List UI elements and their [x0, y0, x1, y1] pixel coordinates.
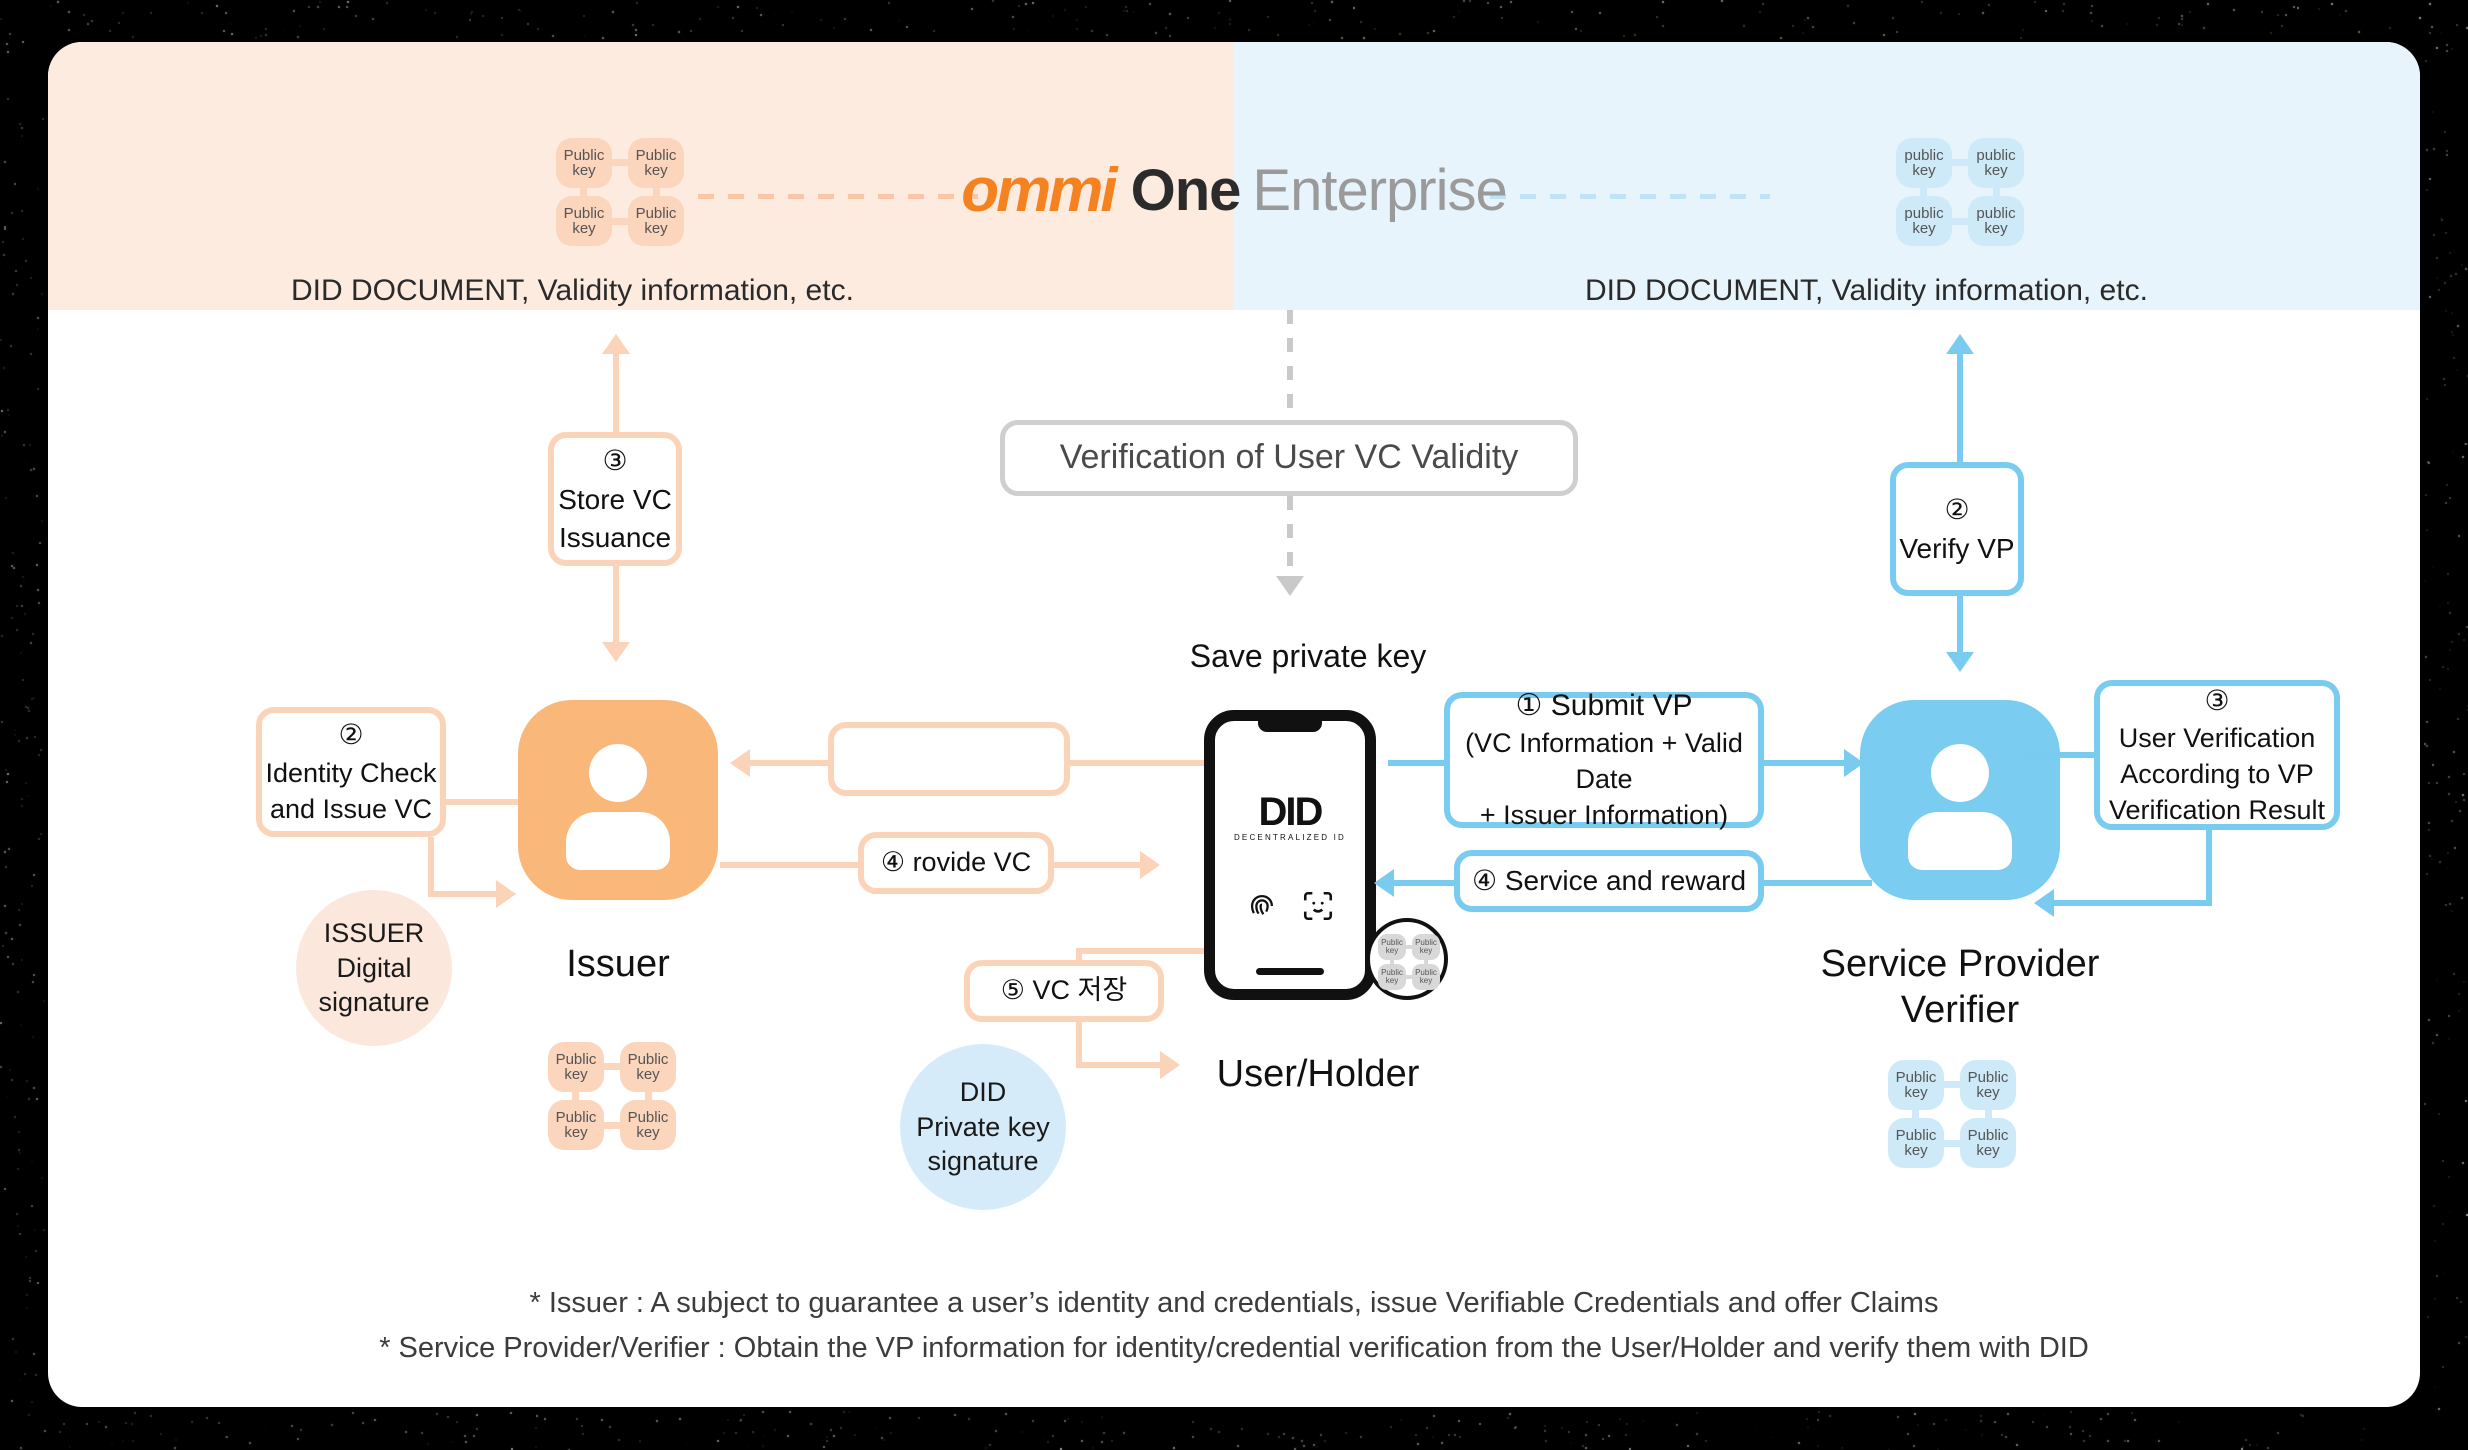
- public-key-grid-issuer-ledger: Publickey Publickey Publickey Publickey: [556, 138, 684, 246]
- circle-line-2: Private key: [916, 1110, 1050, 1145]
- footnote-issuer: * Issuer : A subject to guarantee a user…: [48, 1287, 2420, 1320]
- person-icon-head: [589, 744, 647, 802]
- public-key-grid-verifier: Publickey Publickey Publickey Publickey: [1888, 1060, 2016, 1168]
- person-icon-body: [1908, 812, 2012, 870]
- verifier-label-line-2: Verifier: [1748, 988, 2172, 1034]
- public-key-node: Publickey: [628, 138, 684, 188]
- step-number: ③: [2204, 682, 2229, 719]
- step-number: ③: [602, 442, 627, 479]
- step-box-provide-vc[interactable]: ④ rovide VC: [858, 832, 1054, 894]
- step-line-3: Verification Result: [2109, 793, 2325, 829]
- connector-verification-down: [2206, 830, 2212, 906]
- public-key-node: Publickey: [1888, 1060, 1944, 1110]
- step-line-1: User Verification: [2119, 721, 2316, 757]
- connector-store-vc-up: [613, 352, 619, 432]
- dashed-flow-bottom: [1287, 496, 1293, 582]
- step-line-1: Identity Check: [265, 756, 436, 792]
- connector-identity-down: [428, 837, 434, 897]
- brand-logo: ommi One Enterprise: [48, 160, 2420, 222]
- fingerprint-icon[interactable]: [1245, 889, 1279, 923]
- public-key-node: Publickey: [1412, 964, 1440, 990]
- connector-verify-vp-down: [1957, 596, 1963, 658]
- did-private-key-signature-circle: DID Private key signature: [900, 1044, 1066, 1210]
- step-number: ②: [1944, 491, 1969, 528]
- circle-line-2: Digital: [336, 951, 411, 986]
- public-key-grid-verifier-ledger: publickey publickey publickey publickey: [1896, 138, 2024, 246]
- step-box-identity-check[interactable]: ② Identity Check and Issue VC: [256, 707, 446, 837]
- screenshot-root: ommi One Enterprise DID DOCUMENT, Validi…: [0, 0, 2468, 1450]
- public-key-node: publickey: [1896, 138, 1952, 188]
- arrowhead-down-validity: [1276, 576, 1304, 596]
- step-line-2: (VC Information + Valid Date: [1450, 726, 1758, 798]
- connector-provide-vc-left: [720, 862, 870, 868]
- public-key-node: Publickey: [556, 138, 612, 188]
- public-key-grid-badge: Publickey Publickey Publickey Publickey: [1378, 934, 1440, 990]
- connector-provide-vc-right: [1050, 862, 1146, 868]
- footnote-verifier: * Service Provider/Verifier : Obtain the…: [48, 1332, 2420, 1365]
- arrowhead-left-service-reward: [1374, 869, 1394, 897]
- circle-line-3: signature: [318, 985, 429, 1020]
- biometric-icons: [1215, 889, 1365, 923]
- step-box-vc-save[interactable]: ⑤ VC 저장: [964, 960, 1164, 1022]
- step-label: ⑤ VC 저장: [1001, 973, 1127, 1009]
- public-key-node: Publickey: [620, 1100, 676, 1150]
- connector-verifier-to-verification: [2024, 752, 2094, 758]
- connector-identity-to-right: [428, 891, 502, 897]
- issuer-role-label: Issuer: [448, 942, 788, 988]
- circle-line-3: signature: [927, 1144, 1038, 1179]
- connector-blank-box-right: [1070, 760, 1210, 766]
- step-line-2: According to VP: [2120, 757, 2314, 793]
- person-icon-body: [566, 812, 670, 870]
- step-box-service-reward[interactable]: ④ Service and reward: [1454, 850, 1764, 912]
- public-key-node: Publickey: [548, 1100, 604, 1150]
- connector-submit-vp-left: [1388, 760, 1452, 766]
- header-caption-right: DID DOCUMENT, Validity information, etc.: [1585, 274, 2148, 308]
- circle-line-1: DID: [960, 1075, 1007, 1110]
- public-key-node: Publickey: [628, 196, 684, 246]
- step-line-3: + Issuer Information): [1480, 798, 1728, 834]
- connector-submit-vp-right: [1764, 760, 1850, 766]
- did-logo-subtext: DECENTRALIZED ID: [1215, 833, 1365, 842]
- user-phone-mockup: DID DECENTRALIZED ID: [1204, 710, 1376, 1000]
- arrowhead-down-verify-vp: [1946, 652, 1974, 672]
- phone-notch: [1258, 720, 1322, 732]
- validity-verification-box[interactable]: Verification of User VC Validity: [1000, 420, 1578, 496]
- step-box-verify-vp[interactable]: ② Verify VP: [1890, 462, 2024, 596]
- step-line-1: Store VC: [558, 481, 672, 518]
- step-label: ④ rovide VC: [881, 845, 1031, 881]
- header-caption-left: DID DOCUMENT, Validity information, etc.: [291, 274, 854, 308]
- save-private-key-label: Save private key: [1108, 638, 1508, 675]
- public-key-node: Publickey: [548, 1042, 604, 1092]
- public-key-node: publickey: [1968, 138, 2024, 188]
- verifier-avatar: [1860, 700, 2060, 900]
- brand-one: One: [1131, 162, 1241, 220]
- connector-verify-vp-up: [1957, 352, 1963, 462]
- diagram-card: ommi One Enterprise DID DOCUMENT, Validi…: [48, 42, 2420, 1407]
- brand-mark: ommi: [961, 160, 1114, 222]
- issuer-avatar: [518, 700, 718, 900]
- arrowhead-right-identity: [496, 880, 516, 908]
- arrowhead-right-provide-vc: [1140, 851, 1160, 879]
- arrowhead-down-store-vc: [602, 642, 630, 662]
- public-key-node: Publickey: [556, 196, 612, 246]
- issuer-digital-signature-circle: ISSUER Digital signature: [296, 890, 452, 1046]
- private-key-badge: Publickey Publickey Publickey Publickey: [1366, 918, 1448, 1000]
- connector-store-vc-down: [613, 566, 619, 648]
- step-line-1: Verify VP: [1899, 530, 2014, 567]
- public-key-node: Publickey: [1960, 1060, 2016, 1110]
- step-label: ④ Service and reward: [1472, 862, 1746, 899]
- validity-label: Verification of User VC Validity: [1060, 435, 1519, 480]
- did-logo-text: DID: [1215, 793, 1365, 831]
- arrowhead-left-verification: [2034, 889, 2054, 917]
- connector-service-reward-right: [1764, 880, 1872, 886]
- step-number: ②: [338, 716, 363, 753]
- face-id-icon[interactable]: [1301, 889, 1335, 923]
- connector-vc-save-top: [1076, 948, 1210, 954]
- public-key-node: publickey: [1968, 196, 2024, 246]
- step-box-blank[interactable]: [828, 722, 1070, 796]
- holder-role-label: User/Holder: [1138, 1052, 1498, 1098]
- connector-verification-back: [2050, 900, 2212, 906]
- step-line-2: and Issue VC: [270, 792, 432, 828]
- step-title: ① Submit VP: [1516, 686, 1693, 726]
- step-box-submit-vp[interactable]: ① Submit VP (VC Information + Valid Date…: [1444, 692, 1764, 828]
- phone-home-indicator: [1256, 968, 1324, 975]
- connector-service-reward-left: [1388, 880, 1462, 886]
- arrowhead-left-blank: [730, 749, 750, 777]
- public-key-node: Publickey: [1378, 964, 1406, 990]
- public-key-node: Publickey: [620, 1042, 676, 1092]
- circle-line-1: ISSUER: [324, 916, 425, 951]
- public-key-node: Publickey: [1960, 1118, 2016, 1168]
- person-icon-head: [1931, 744, 1989, 802]
- did-logo: DID DECENTRALIZED ID: [1215, 793, 1365, 842]
- public-key-node: Publickey: [1378, 934, 1406, 960]
- verifier-role-label: Service Provider Verifier: [1748, 942, 2172, 1033]
- step-box-user-verification[interactable]: ③ User Verification According to VP Veri…: [2094, 680, 2340, 830]
- public-key-grid-issuer: Publickey Publickey Publickey Publickey: [548, 1042, 676, 1150]
- step-line-2: Issuance: [559, 519, 671, 556]
- connector-identity-to-issuer: [446, 799, 526, 805]
- public-key-node: Publickey: [1888, 1118, 1944, 1168]
- arrowhead-up-verify-vp: [1946, 334, 1974, 354]
- step-box-store-vc[interactable]: ③ Store VC Issuance: [548, 432, 682, 566]
- arrowhead-up-store-vc: [602, 334, 630, 354]
- public-key-node: Publickey: [1412, 934, 1440, 960]
- brand-enterprise: Enterprise: [1252, 162, 1506, 220]
- public-key-node: publickey: [1896, 196, 1952, 246]
- verifier-label-line-1: Service Provider: [1748, 942, 2172, 988]
